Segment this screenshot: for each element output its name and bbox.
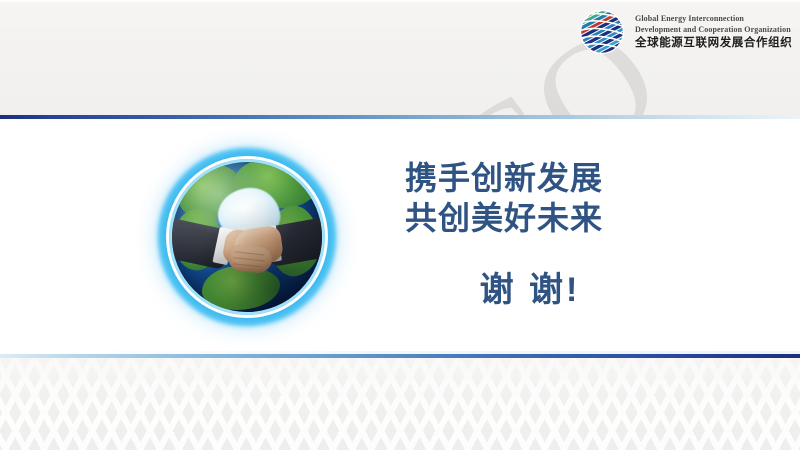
geidco-globe-logo-icon	[578, 8, 626, 56]
footer-mesh-area	[0, 358, 800, 450]
globe-handshake-emblem-icon	[158, 148, 336, 326]
mesh-fade-overlay	[0, 358, 800, 450]
brand-name-cn: 全球能源互联网发展合作组织	[635, 36, 792, 51]
thanks-text: 谢 谢!	[405, 262, 655, 311]
title-line-2: 共创美好未来	[405, 198, 735, 238]
brand-name-en-line2: Development and Cooperation Organization	[635, 25, 792, 36]
brand-name-en-line1: Global Energy Interconnection	[635, 14, 792, 25]
slide-title: 携手创新发展 共创美好未来	[405, 158, 735, 238]
brand-logo: Global Energy Interconnection Developmen…	[578, 8, 792, 56]
globe-shine	[172, 162, 322, 312]
title-line-1: 携手创新发展	[405, 158, 735, 198]
brand-logo-text: Global Energy Interconnection Developmen…	[635, 13, 792, 51]
globe-graphic	[172, 162, 322, 312]
presentation-slide: GEIDCO	[0, 0, 800, 450]
